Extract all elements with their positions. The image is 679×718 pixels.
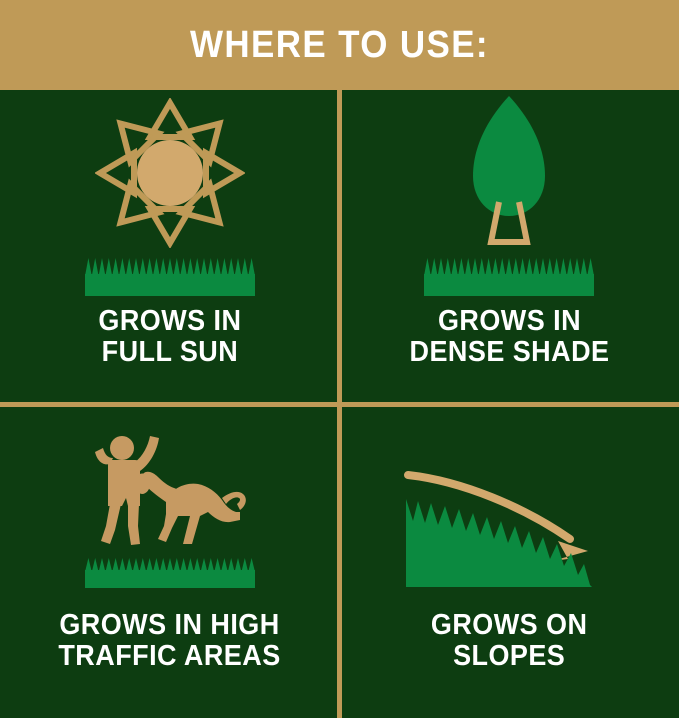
grass-strip-icon: [85, 558, 255, 588]
panel-high-traffic-art: [0, 404, 340, 592]
panel-slopes: GROWS ON SLOPES: [340, 404, 679, 718]
caption-line-1: GROWS ON: [431, 610, 588, 641]
panel-full-sun-art: [0, 90, 340, 300]
sloped-grass-icon: [402, 463, 617, 588]
person-and-dog-icon: [80, 426, 260, 556]
caption-line-1: GROWS IN HIGH: [59, 610, 281, 641]
panel-dense-shade-art: [340, 90, 679, 300]
caption-line-2: FULL SUN: [98, 337, 241, 368]
caption-line-2: DENSE SHADE: [409, 337, 609, 368]
panel-dense-shade-caption: GROWS IN DENSE SHADE: [404, 306, 615, 368]
where-to-use-poster: WHERE TO USE:: [0, 0, 679, 679]
grass-strip-icon: [85, 258, 255, 296]
caption-line-1: GROWS IN: [98, 306, 241, 337]
sun-icon: [95, 98, 245, 248]
panel-high-traffic: GROWS IN HIGH TRAFFIC AREAS: [0, 404, 340, 718]
panel-slopes-caption: GROWS ON SLOPES: [425, 610, 593, 672]
horizontal-divider: [0, 402, 679, 407]
caption-line-2: TRAFFIC AREAS: [59, 641, 281, 672]
panel-grid: GROWS IN FULL SUN: [0, 90, 679, 718]
panel-full-sun: GROWS IN FULL SUN: [0, 90, 340, 404]
panel-full-sun-caption: GROWS IN FULL SUN: [93, 306, 247, 368]
caption-line-1: GROWS IN: [409, 306, 609, 337]
header-band: WHERE TO USE:: [0, 0, 679, 90]
caption-line-2: SLOPES: [431, 641, 588, 672]
page-title: WHERE TO USE:: [190, 26, 489, 64]
panel-dense-shade: GROWS IN DENSE SHADE: [340, 90, 679, 404]
grass-strip-icon: [424, 258, 594, 296]
panel-high-traffic-caption: GROWS IN HIGH TRAFFIC AREAS: [53, 610, 286, 672]
tree-icon: [449, 90, 569, 250]
panel-slopes-art: [340, 404, 679, 592]
